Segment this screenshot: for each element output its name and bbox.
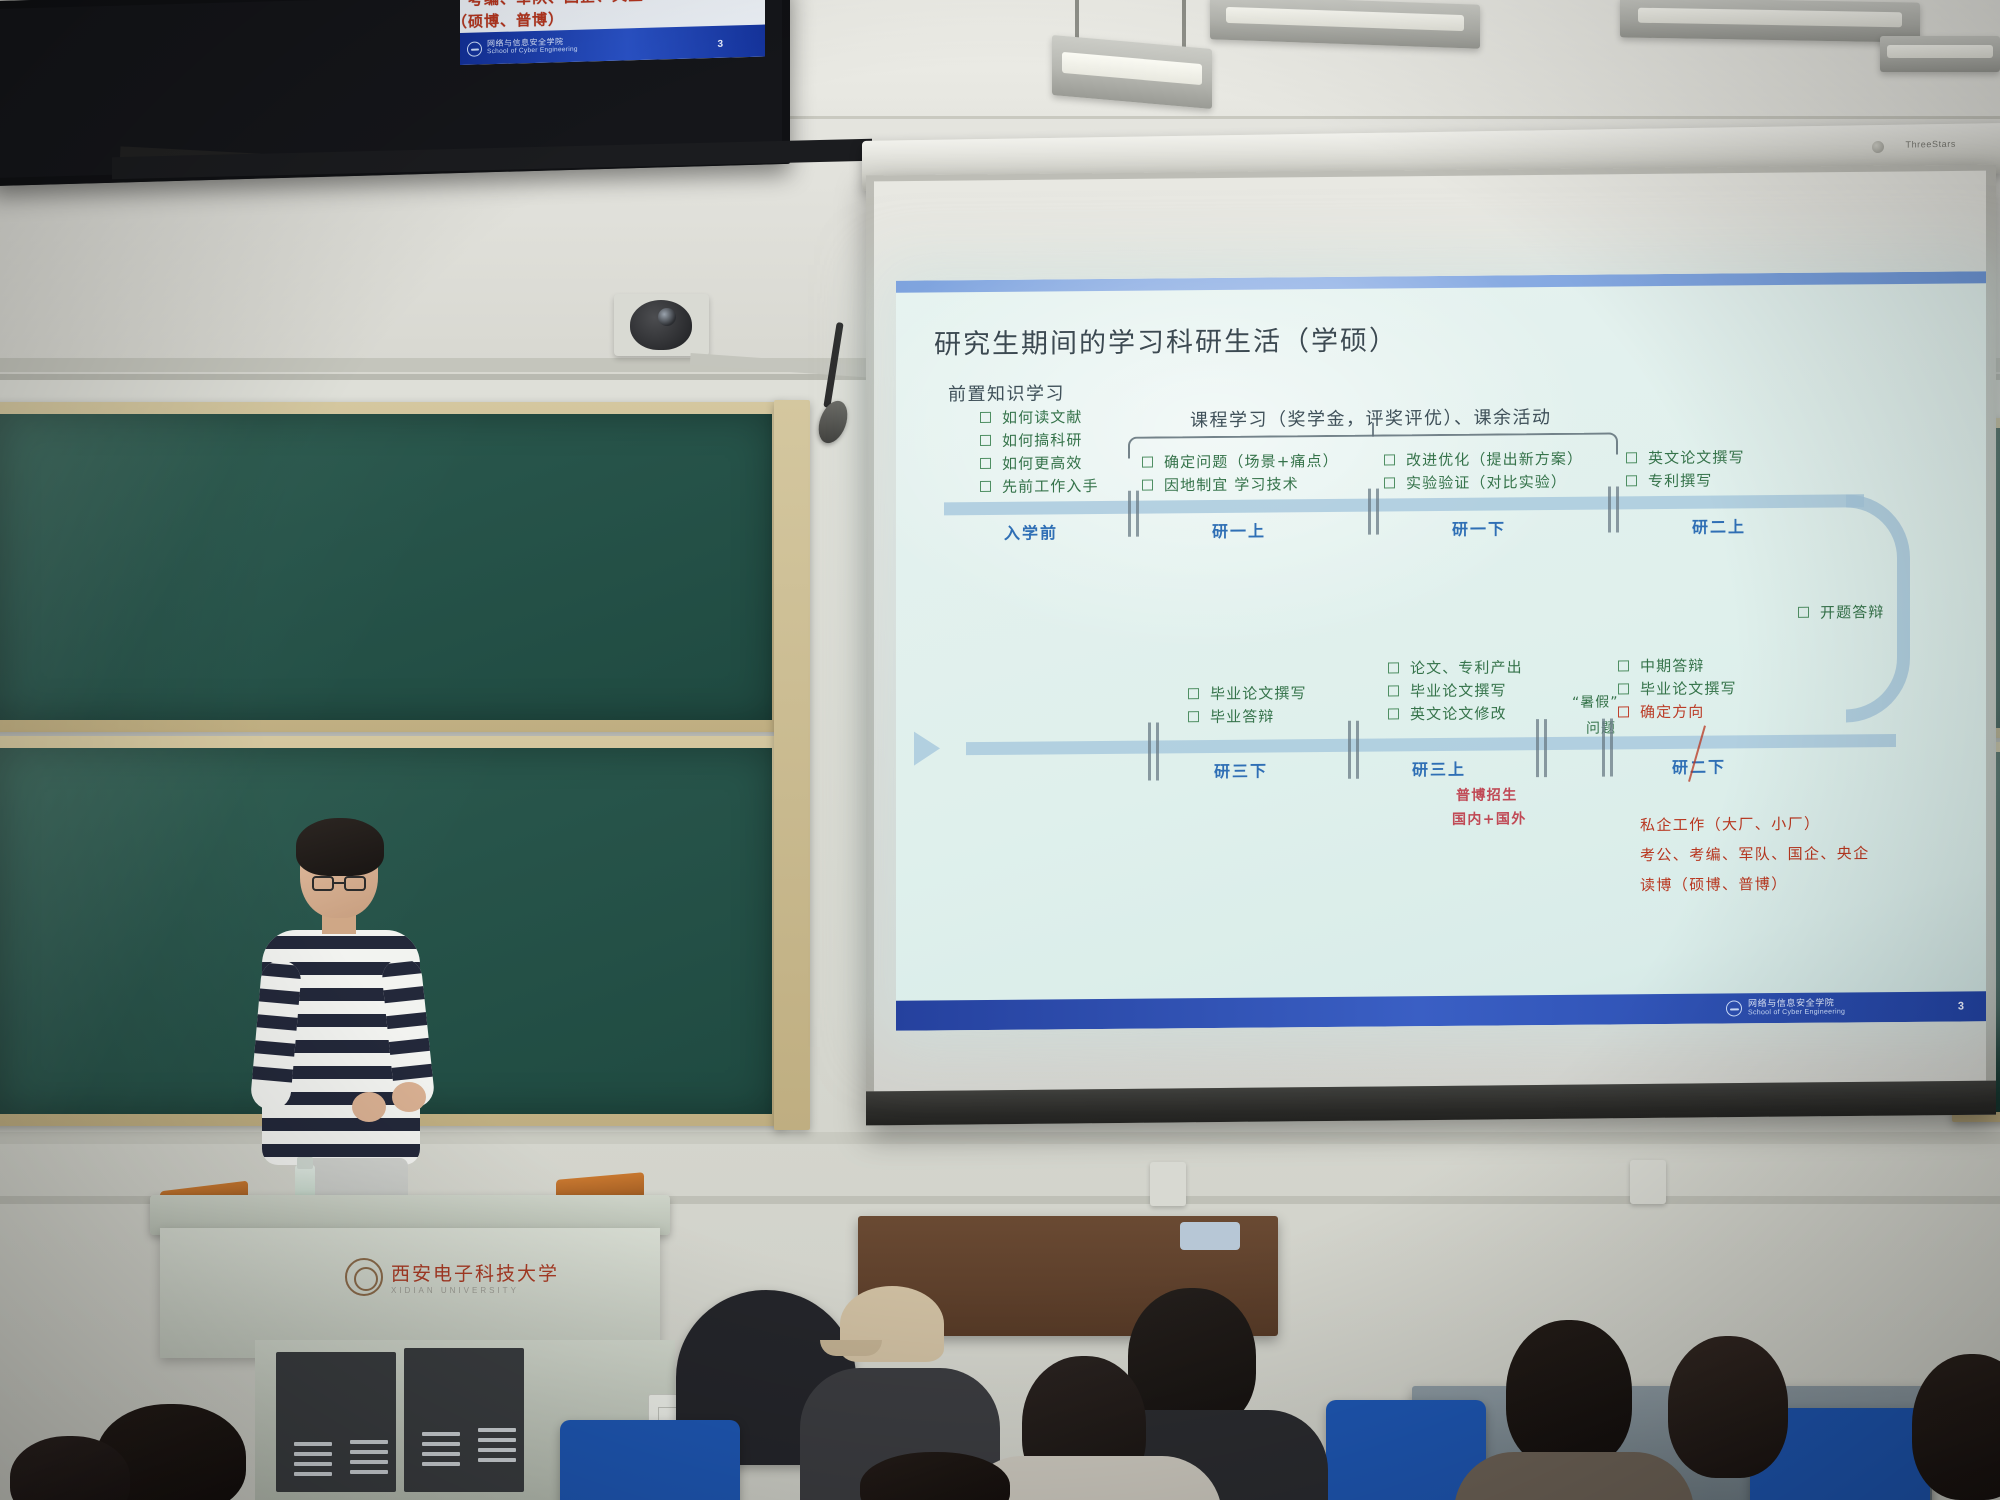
course-brace-stem — [1372, 423, 1374, 437]
timeline-tick — [1356, 721, 1359, 779]
checkbox-icon — [1388, 662, 1399, 673]
blackboard-panel-top-left — [0, 402, 786, 732]
list-item-label: 确定问题（场景+痛点） — [1164, 450, 1339, 473]
timeline-tick — [1148, 723, 1151, 781]
camera-lens-icon — [658, 308, 676, 326]
audience-head-3 — [1506, 1320, 1632, 1468]
list-item-label: 毕业论文撰写 — [1640, 677, 1737, 699]
timeline-bar-top — [944, 494, 1864, 515]
university-name-cn: 西安电子科技大学 — [391, 1259, 559, 1286]
list-item: 毕业答辩 — [1188, 704, 1307, 728]
slide-footer-org-en: School of Cyber Engineering — [1748, 1009, 1845, 1018]
timeline-label-bottom-1: 研三上 — [1412, 756, 1466, 780]
checkbox-icon — [1618, 683, 1629, 694]
list-item: 如何读文献 — [980, 405, 1099, 429]
tv-page-number: 3 — [717, 39, 723, 50]
ceiling-light-fixture — [1620, 0, 1920, 43]
timeline-tick — [1128, 491, 1131, 537]
list-item-label: 中期答辩 — [1640, 655, 1704, 677]
timeline-label-top-3: 研二上 — [1692, 513, 1746, 537]
list-item: 英文论文撰写 — [1626, 445, 1745, 469]
university-seal-icon — [345, 1258, 383, 1296]
list-item-label: 先前工作入手 — [1002, 475, 1099, 497]
slide-section-label: 前置知识学习 — [948, 379, 1065, 406]
checkbox-icon — [1626, 475, 1637, 486]
loop-item-kaiti: 开题答辩 — [1798, 600, 1884, 624]
list-item: 英文论文修改 — [1388, 701, 1523, 725]
list-item: 专利撰写 — [1626, 468, 1745, 492]
checkbox-icon — [980, 458, 991, 469]
presenter-hair — [296, 818, 384, 876]
term-column-yaner-xia: 中期答辩 毕业论文撰写 确定方向 — [1618, 653, 1737, 723]
timeline-arrow-icon — [914, 731, 940, 765]
checkbox-icon — [1388, 708, 1399, 719]
desk-object — [1180, 1222, 1240, 1250]
checkbox-icon — [1142, 480, 1153, 491]
lecture-chair-blue-3 — [560, 1420, 740, 1500]
lecture-hall-scene: 考公、考编、军队、国企、央企 读博（硕博、普博） 网络与信息安全学院 Schoo… — [0, 0, 2000, 1500]
timeline-tick — [1156, 722, 1159, 780]
tv-screen: 考公、考编、军队、国企、央企 读博（硕博、普博） 网络与信息安全学院 Schoo… — [460, 0, 765, 65]
eyeglasses-icon — [312, 876, 334, 891]
list-item: 开题答辩 — [1798, 600, 1884, 624]
housing-indicator-icon — [1872, 141, 1884, 153]
timeline-tick — [1368, 489, 1371, 535]
list-item: 确定问题（场景+痛点） — [1142, 449, 1339, 474]
checkbox-icon — [1798, 607, 1809, 618]
summer-note-line1: “暑假” — [1572, 692, 1619, 713]
blackboard-divider-left — [774, 400, 810, 1130]
audience-shoulders-3 — [1454, 1452, 1694, 1500]
pre-enroll-checklist: 如何读文献 如何搞科研 如何更高效 先前工作入手 — [980, 405, 1099, 498]
checkbox-icon — [980, 481, 991, 492]
podium-cabinet-door-left[interactable] — [276, 1352, 396, 1492]
list-item: 先前工作入手 — [980, 474, 1099, 498]
timeline-tick — [1536, 719, 1539, 777]
list-item: 如何更高效 — [980, 451, 1099, 475]
tv-slide-footer: 网络与信息安全学院 School of Cyber Engineering 3 — [460, 25, 765, 66]
presenter-hand-left — [352, 1092, 386, 1122]
checkbox-icon — [1188, 711, 1199, 722]
tv-org-en: School of Cyber Engineering — [487, 47, 578, 56]
list-item: 中期答辩 — [1618, 653, 1737, 677]
slide-course-header: 课程学习（奖学金，评奖评优）、课余活动 — [1190, 403, 1552, 432]
projected-slide: 研究生期间的学习科研生活（学硕） 前置知识学习 课程学习（奖学金，评奖评优）、课… — [896, 271, 1986, 1031]
list-item-label: 确定方向 — [1640, 701, 1704, 723]
timeline-tick — [1610, 718, 1613, 776]
list-item-label: 实验验证（对比实验） — [1406, 471, 1567, 493]
list-item: 论文、专利产出 — [1388, 655, 1523, 679]
list-item-label: 如何搞科研 — [1002, 429, 1083, 451]
career-line-2: 考公、考编、军队、国企、央企 — [1640, 842, 1870, 867]
timeline-label-bottom-0: 研三下 — [1214, 758, 1268, 782]
term-column-yanyi-shang: 确定问题（场景+痛点） 因地制宜 学习技术 — [1142, 449, 1339, 497]
eyeglasses-bridge-icon — [334, 882, 344, 884]
checkbox-icon — [1618, 706, 1629, 717]
list-item: 毕业论文撰写 — [1388, 678, 1523, 702]
timeline-tick — [1602, 719, 1605, 777]
list-item-label: 毕业答辩 — [1210, 705, 1274, 727]
audience-cap-brim — [820, 1340, 882, 1356]
ceiling-light-fixture — [1880, 36, 2000, 72]
term-column-yansan-shang: 论文、专利产出 毕业论文撰写 英文论文修改 — [1388, 655, 1523, 725]
list-item-label: 如何读文献 — [1002, 406, 1083, 428]
list-item: 毕业论文撰写 — [1618, 676, 1737, 700]
podium-cabinet-door-right[interactable] — [404, 1348, 524, 1492]
list-item-label: 毕业论文撰写 — [1410, 679, 1507, 701]
term-column-yaner-shang: 英文论文撰写 专利撰写 — [1626, 445, 1745, 492]
list-item: 改进优化（提出新方案） — [1384, 447, 1583, 472]
timeline-tick — [1376, 489, 1379, 535]
university-logo: 西安电子科技大学 XIDIAN UNIVERSITY — [345, 1258, 559, 1296]
timeline-label-top-2: 研一下 — [1452, 515, 1506, 539]
timeline-label-top-0: 入学前 — [1004, 519, 1058, 543]
ptz-camera-icon — [630, 300, 692, 350]
career-line-3: 读博（硕博、普博） — [1640, 873, 1788, 898]
list-item-label: 英文论文修改 — [1410, 702, 1507, 724]
career-line-1: 私企工作（大厂、小厂） — [1640, 813, 1820, 838]
phd-note-line2: 国内+国外 — [1452, 809, 1527, 831]
checkbox-icon — [980, 412, 991, 423]
slide-page-number: 3 — [1958, 1000, 1964, 1012]
bottle-cap — [297, 1157, 313, 1169]
timeline-bar-bottom — [966, 734, 1896, 755]
checkbox-icon — [980, 435, 991, 446]
list-item: 因地制宜 学习技术 — [1142, 472, 1339, 497]
light-hanger — [1182, 0, 1186, 48]
eyeglasses-icon — [344, 876, 366, 891]
list-item-label: 改进优化（提出新方案） — [1406, 448, 1583, 471]
tv-slide-line1: 考公、考编、军队、国企、央企 — [460, 0, 644, 11]
checkbox-icon — [1384, 454, 1395, 465]
list-item-label: 英文论文撰写 — [1648, 446, 1745, 468]
checkbox-icon — [1384, 477, 1395, 488]
list-item-label: 专利撰写 — [1648, 470, 1712, 492]
list-item: 毕业论文撰写 — [1188, 681, 1307, 705]
slide-title: 研究生期间的学习科研生活（学硕） — [934, 318, 1398, 361]
term-column-yanyi-xia: 改进优化（提出新方案） 实验验证（对比实验） — [1384, 447, 1583, 495]
list-item: 确定方向 — [1618, 699, 1737, 723]
timeline-tick — [1616, 486, 1619, 532]
term-column-yansan-xia: 毕业论文撰写 毕业答辩 — [1188, 681, 1307, 728]
timeline-tick — [1348, 721, 1351, 779]
timeline-label-top-1: 研一上 — [1212, 518, 1266, 542]
checkbox-icon — [1618, 660, 1629, 671]
timeline-tick — [1544, 719, 1547, 777]
list-item-label: 如何更高效 — [1002, 452, 1083, 474]
timeline-tick — [1136, 491, 1139, 537]
list-item-label: 毕业论文撰写 — [1210, 682, 1307, 704]
list-item: 实验验证（对比实验） — [1384, 470, 1583, 495]
cyber-school-logo-icon — [1726, 1000, 1742, 1016]
checkbox-icon — [1626, 452, 1637, 463]
list-item: 如何搞科研 — [980, 428, 1099, 452]
housing-brand-label: ThreeStars — [1905, 139, 1956, 150]
wall-speaker-2 — [1630, 1160, 1666, 1204]
list-item-label: 论文、专利产出 — [1410, 656, 1523, 678]
audience-head — [1128, 1288, 1256, 1430]
audience-head-4 — [1668, 1336, 1788, 1478]
timeline-tick — [1608, 487, 1611, 533]
checkbox-icon — [1142, 457, 1153, 468]
university-name-en: XIDIAN UNIVERSITY — [391, 1286, 559, 1295]
list-item-label: 开题答辩 — [1820, 601, 1884, 623]
phd-note-line1: 普博招生 — [1456, 785, 1518, 807]
list-item-label: 因地制宜 学习技术 — [1164, 473, 1299, 495]
checkbox-icon — [1188, 688, 1199, 699]
wall-speaker — [1150, 1162, 1186, 1206]
presenter-hand-right — [392, 1082, 426, 1112]
checkbox-icon — [1388, 685, 1399, 696]
timeline-label-bottom-2: 研二下 — [1672, 754, 1726, 778]
cyber-school-logo-icon — [467, 41, 482, 56]
